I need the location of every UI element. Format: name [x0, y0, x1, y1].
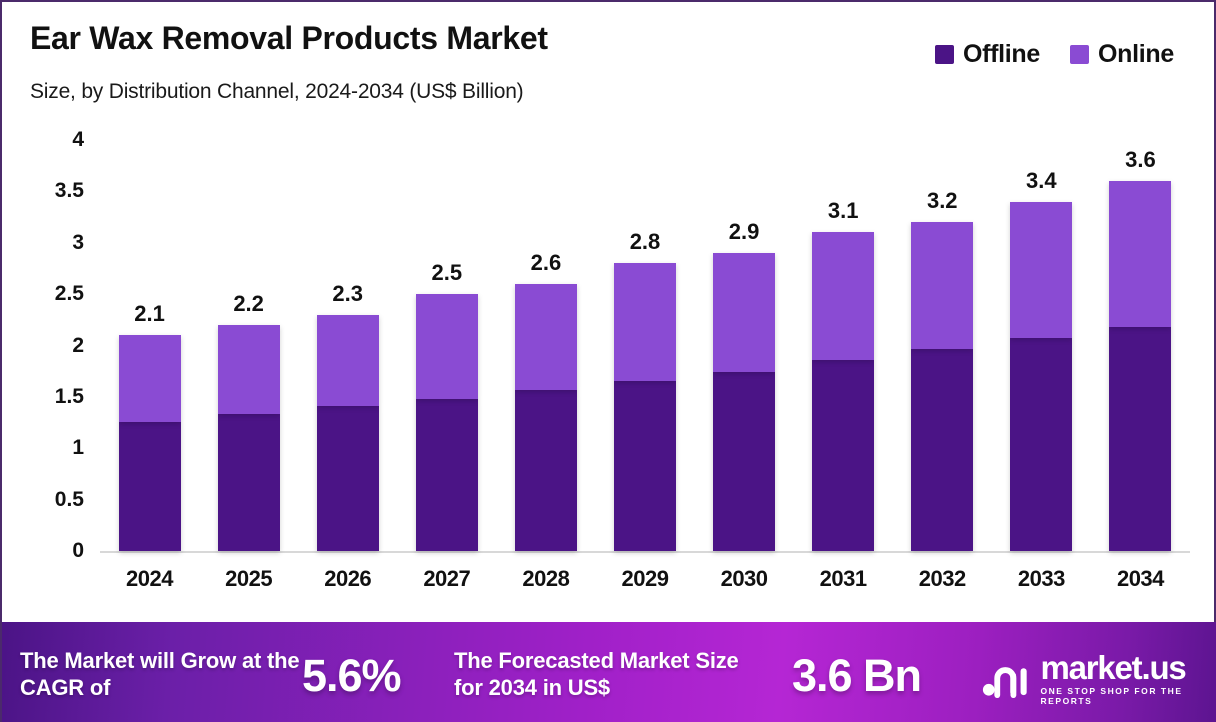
bar-group[interactable]: 3.62034 [1091, 2, 1190, 614]
y-axis-tick-label: 1.5 [22, 385, 84, 409]
bar-group[interactable]: 2.52027 [397, 2, 496, 614]
bar-segment-online[interactable] [1109, 181, 1171, 327]
bar-total-label: 3.1 [828, 198, 859, 224]
bar-segment-online[interactable] [713, 253, 775, 372]
bar-total-label: 2.9 [729, 219, 760, 245]
bar-total-label: 3.4 [1026, 168, 1057, 194]
bar-total-label: 2.3 [332, 281, 363, 307]
bar-segment-offline[interactable] [515, 390, 577, 551]
bar-group[interactable]: 2.62028 [496, 2, 595, 614]
cagr-label: The Market will Grow at the CAGR of [20, 648, 300, 702]
bar-segment-online[interactable] [317, 315, 379, 406]
bar-segment-online[interactable] [812, 232, 874, 359]
logo-tagline: ONE STOP SHOP FOR THE REPORTS [1040, 686, 1216, 706]
bar-segment-online[interactable] [515, 284, 577, 390]
bar-segment-online[interactable] [218, 325, 280, 414]
y-axis-tick-label: 3 [22, 231, 84, 255]
bar-group[interactable]: 2.22025 [199, 2, 298, 614]
bar-group[interactable]: 3.22032 [893, 2, 992, 614]
x-axis-tick-label: 2028 [522, 566, 569, 592]
x-axis-tick-label: 2031 [820, 566, 867, 592]
bar-group[interactable]: 2.82029 [595, 2, 694, 614]
bar-total-label: 2.2 [233, 291, 264, 317]
bar-total-label: 2.6 [531, 250, 562, 276]
bar-total-label: 3.6 [1125, 147, 1156, 173]
infographic-root: Ear Wax Removal Products Market Size, by… [0, 0, 1216, 722]
x-axis-tick-label: 2027 [423, 566, 470, 592]
bar-segment-offline[interactable] [614, 381, 676, 551]
cagr-value: 5.6% [302, 650, 401, 702]
x-axis-tick-label: 2024 [126, 566, 173, 592]
forecast-value: 3.6 Bn [792, 650, 921, 702]
chart-plot-area: 00.511.522.533.54 2.120242.220252.320262… [2, 2, 1216, 614]
bar-segment-offline[interactable] [812, 360, 874, 551]
bar-group[interactable]: 3.12031 [794, 2, 893, 614]
bar-total-label: 3.2 [927, 188, 958, 214]
y-axis-tick-label: 0.5 [22, 488, 84, 512]
y-axis-tick-label: 4 [22, 128, 84, 152]
x-axis-tick-label: 2029 [622, 566, 669, 592]
bar-total-label: 2.8 [630, 229, 661, 255]
bar-total-label: 2.1 [134, 301, 165, 327]
y-axis-tick-label: 2 [22, 334, 84, 358]
bar-group[interactable]: 2.32026 [298, 2, 397, 614]
x-axis-tick-label: 2025 [225, 566, 272, 592]
y-axis-tick-label: 3.5 [22, 179, 84, 203]
market-us-logo-mark-icon [982, 658, 1030, 700]
bar-series-container: 2.120242.220252.320262.520272.620282.820… [100, 2, 1190, 614]
x-axis-tick-label: 2026 [324, 566, 371, 592]
bar-segment-offline[interactable] [416, 399, 478, 551]
bar-segment-online[interactable] [416, 294, 478, 399]
bar-segment-offline[interactable] [911, 349, 973, 551]
y-axis: 00.511.522.533.54 [22, 2, 84, 614]
forecast-label: The Forecasted Market Size for 2034 in U… [454, 648, 754, 702]
x-axis-tick-label: 2033 [1018, 566, 1065, 592]
x-axis-tick-label: 2034 [1117, 566, 1164, 592]
bar-segment-offline[interactable] [1109, 327, 1171, 551]
bar-segment-online[interactable] [119, 335, 181, 421]
bar-total-label: 2.5 [432, 260, 463, 286]
x-axis-tick-label: 2032 [919, 566, 966, 592]
market-us-logo: market.us ONE STOP SHOP FOR THE REPORTS [982, 652, 1216, 706]
y-axis-tick-label: 0 [22, 539, 84, 563]
bar-segment-online[interactable] [1010, 202, 1072, 339]
bar-group[interactable]: 2.92030 [695, 2, 794, 614]
y-axis-tick-label: 2.5 [22, 282, 84, 306]
logo-text-block: market.us ONE STOP SHOP FOR THE REPORTS [1040, 652, 1216, 706]
y-axis-tick-label: 1 [22, 436, 84, 460]
logo-name: market.us [1040, 652, 1216, 683]
bar-segment-offline[interactable] [713, 372, 775, 551]
bar-segment-online[interactable] [911, 222, 973, 348]
footer-banner: The Market will Grow at the CAGR of 5.6%… [2, 622, 1216, 722]
bar-group[interactable]: 3.42033 [992, 2, 1091, 614]
bar-segment-offline[interactable] [317, 406, 379, 551]
bar-group[interactable]: 2.12024 [100, 2, 199, 614]
x-axis-tick-label: 2030 [721, 566, 768, 592]
bar-segment-offline[interactable] [119, 422, 181, 551]
bar-segment-offline[interactable] [218, 414, 280, 551]
bar-segment-online[interactable] [614, 263, 676, 381]
bar-segment-offline[interactable] [1010, 338, 1072, 551]
